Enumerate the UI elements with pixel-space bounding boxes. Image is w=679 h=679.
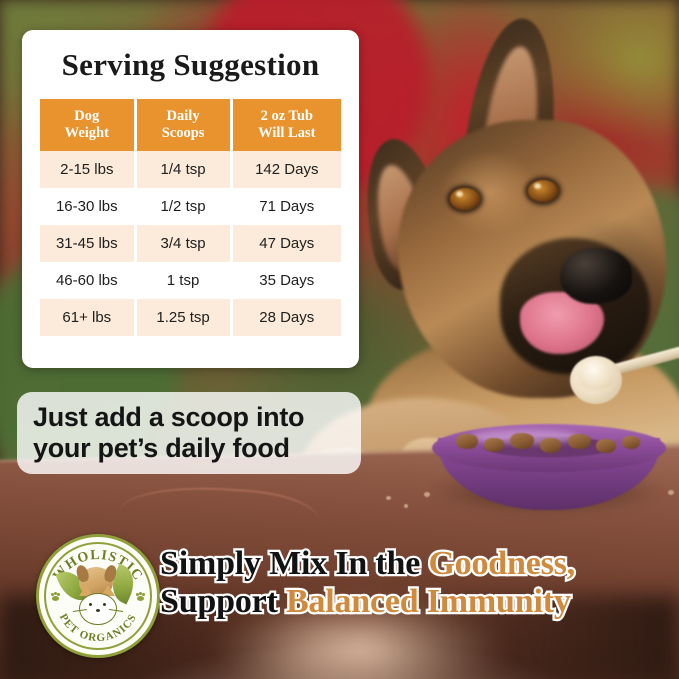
- dog-eye-highlight-right: [534, 183, 541, 189]
- instruction-line-2: your pet’s daily food: [33, 433, 345, 464]
- paw-print-left-icon: [51, 593, 60, 602]
- kibble-4: [540, 438, 561, 453]
- serving-suggestion-card: Serving Suggestion Dog Weight Daily Scoo…: [22, 30, 359, 368]
- logo-cat-eye-left-icon: [89, 603, 92, 606]
- table-row: 61+ lbs 1.25 tsp 28 Days: [40, 299, 341, 336]
- cell-dog-weight: 61+ lbs: [40, 299, 134, 336]
- column-header-tub-will-last: 2 oz Tub Will Last: [233, 99, 341, 151]
- table-row: 31-45 lbs 3/4 tsp 47 Days: [40, 225, 341, 262]
- dog-eye-right: [528, 180, 558, 202]
- header-line-2: Weight: [65, 125, 109, 141]
- tagline-line-1-accent: Goodness,: [428, 545, 575, 582]
- dog-eye-highlight-left: [456, 191, 463, 197]
- logo-cat-eye-right-icon: [103, 603, 106, 606]
- brand-logo: WHOLISTIC PET ORGANICS: [36, 534, 160, 658]
- table-row: 46-60 lbs 1 tsp 35 Days: [40, 262, 341, 299]
- tagline-line-2-plain: Support: [160, 583, 286, 620]
- tagline-line-1-plain: Simply Mix In the: [160, 545, 428, 582]
- cell-daily-scoops: 1/2 tsp: [137, 188, 230, 225]
- cell-tub-will-last: 47 Days: [233, 225, 341, 262]
- dog-eye-left: [450, 188, 480, 210]
- logo-artwork: [65, 563, 131, 629]
- serving-table: Dog Weight Daily Scoops 2 oz Tub Will La…: [37, 99, 344, 336]
- cell-daily-scoops: 1 tsp: [137, 262, 230, 299]
- cell-daily-scoops: 1/4 tsp: [137, 151, 230, 188]
- kibble-3: [510, 433, 534, 449]
- product-marketing-image: Serving Suggestion Dog Weight Daily Scoo…: [0, 0, 679, 679]
- kibble-1: [456, 434, 478, 449]
- table-crumb-4: [668, 490, 674, 495]
- scoop-powder: [578, 360, 614, 390]
- cell-dog-weight: 2-15 lbs: [40, 151, 134, 188]
- header-line-2: Will Last: [258, 125, 315, 141]
- table-crumb-3: [424, 492, 430, 497]
- instruction-line-1: Just add a scoop into: [33, 402, 345, 433]
- tagline-line-2-accent: Balanced Immunity: [286, 583, 571, 620]
- table-crumb-1: [386, 496, 391, 500]
- cell-tub-will-last: 71 Days: [233, 188, 341, 225]
- logo-cat-nose-icon: [96, 609, 100, 612]
- table-row: 16-30 lbs 1/2 tsp 71 Days: [40, 188, 341, 225]
- header-line-2: Scoops: [162, 125, 205, 141]
- cell-daily-scoops: 3/4 tsp: [137, 225, 230, 262]
- header-line-1: Dog: [74, 108, 99, 124]
- brand-tagline: Simply Mix In the Goodness, Support Bala…: [160, 545, 672, 622]
- tagline-line-1: Simply Mix In the Goodness,: [160, 545, 672, 583]
- kibble-6: [596, 439, 616, 453]
- cell-dog-weight: 16-30 lbs: [40, 188, 134, 225]
- card-title: Serving Suggestion: [22, 47, 359, 83]
- cell-tub-will-last: 142 Days: [233, 151, 341, 188]
- kibble-5: [568, 434, 591, 449]
- cell-tub-will-last: 35 Days: [233, 262, 341, 299]
- column-header-daily-scoops: Daily Scoops: [137, 99, 230, 151]
- header-line-1: Daily: [167, 108, 200, 124]
- table-row: 2-15 lbs 1/4 tsp 142 Days: [40, 151, 341, 188]
- kibble-7: [622, 436, 640, 449]
- dog-nose: [560, 248, 632, 304]
- cell-daily-scoops: 1.25 tsp: [137, 299, 230, 336]
- tagline-line-2: Support Balanced Immunity: [160, 583, 672, 621]
- instruction-banner: Just add a scoop into your pet’s daily f…: [17, 392, 361, 474]
- kibble-2: [484, 438, 504, 452]
- table-crumb-2: [404, 504, 408, 508]
- table-header-row: Dog Weight Daily Scoops 2 oz Tub Will La…: [40, 99, 341, 151]
- cell-dog-weight: 31-45 lbs: [40, 225, 134, 262]
- paw-print-right-icon: [136, 593, 145, 602]
- column-header-dog-weight: Dog Weight: [40, 99, 134, 151]
- cell-tub-will-last: 28 Days: [233, 299, 341, 336]
- header-line-1: 2 oz Tub: [261, 108, 313, 124]
- cell-dog-weight: 46-60 lbs: [40, 262, 134, 299]
